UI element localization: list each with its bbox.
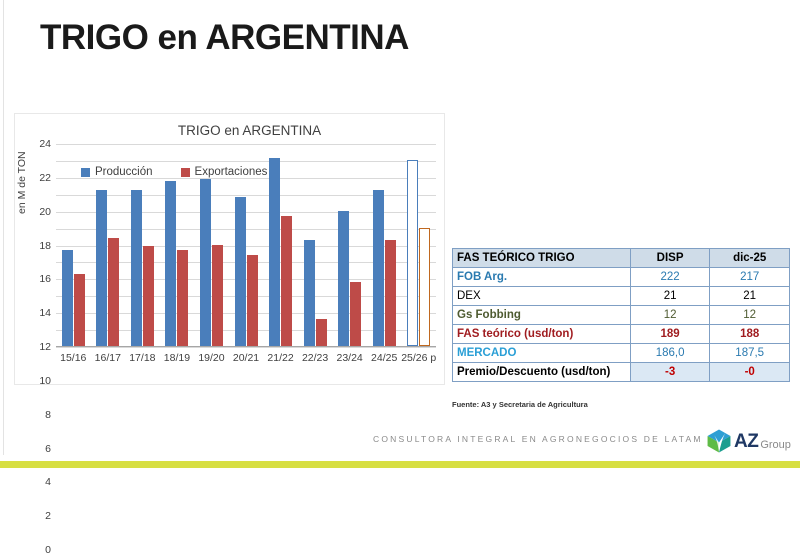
bar-produccion — [338, 211, 349, 346]
logo-group-text: Group — [760, 440, 791, 454]
table-row: DEX2121 — [453, 287, 790, 306]
y-axis-tick-label: 24 — [39, 138, 51, 150]
cube-logo-icon — [706, 428, 732, 454]
table-cell-label: MERCADO — [453, 344, 631, 363]
table-cell-dic25: 187,5 — [710, 344, 790, 363]
y-axis-tick-label: 14 — [39, 307, 51, 319]
legend-swatch-icon — [81, 168, 90, 177]
x-axis-category-label: 16/17 — [95, 352, 121, 364]
table-cell-disp: -3 — [630, 363, 710, 382]
table-cell-label: FAS teórico (usd/ton) — [453, 325, 631, 344]
footer-tagline: CONSULTORA INTEGRAL EN AGRONEGOCIOS DE L… — [373, 434, 703, 444]
table-header: FAS TEÓRICO TRIGO DISP dic-25 — [453, 249, 790, 268]
legend-item: Producción — [81, 166, 153, 178]
bar-produccion — [269, 158, 280, 346]
y-axis-tick-label: 18 — [39, 240, 51, 252]
table-row: Gs Fobbing1212 — [453, 306, 790, 325]
table-cell-dic25: -0 — [710, 363, 790, 382]
x-axis-category-label: 21/22 — [267, 352, 293, 364]
table-cell-disp: 222 — [630, 268, 710, 287]
table-cell-dic25: 21 — [710, 287, 790, 306]
bar-produccion — [304, 240, 315, 346]
table-row: MERCADO186,0187,5 — [453, 344, 790, 363]
legend-swatch-icon — [181, 168, 190, 177]
y-axis-tick-label: 12 — [39, 341, 51, 353]
page-title: TRIGO en ARGENTINA — [40, 18, 409, 58]
legend-label: Exportaciones — [195, 166, 268, 178]
logo-az-text: AZ — [734, 432, 758, 451]
y-axis-tick-label: 10 — [39, 375, 51, 387]
bar-produccion — [96, 190, 107, 346]
bar-exportaciones — [281, 216, 292, 346]
x-axis-category-label: 24/25 — [371, 352, 397, 364]
legend-label: Producción — [95, 166, 153, 178]
slide-left-edge — [3, 0, 4, 455]
bar-exportaciones — [247, 255, 258, 346]
bar-exportaciones — [212, 245, 223, 346]
legend-item: Exportaciones — [181, 166, 268, 178]
table-header-cell-disp: DISP — [630, 249, 710, 268]
y-axis-tick-label: 4 — [45, 476, 51, 488]
bar-exportaciones — [350, 282, 361, 346]
bar-exportaciones — [385, 240, 396, 346]
table-cell-disp: 186,0 — [630, 344, 710, 363]
table-row: FOB Arg.222217 — [453, 268, 790, 287]
bar-group: 21/22 — [263, 144, 298, 346]
table-cell-dic25: 188 — [710, 325, 790, 344]
y-axis-tick-label: 8 — [45, 409, 51, 421]
bar-produccion — [165, 181, 176, 346]
bar-exportaciones — [143, 246, 154, 346]
bar-group: 24/25 — [367, 144, 402, 346]
table-cell-dic25: 217 — [710, 268, 790, 287]
table-header-row: FAS TEÓRICO TRIGO DISP dic-25 — [453, 249, 790, 268]
table-cell-disp: 21 — [630, 287, 710, 306]
y-axis-tick-label: 16 — [39, 273, 51, 285]
x-axis-category-label: 15/16 — [60, 352, 86, 364]
bar-produccion — [235, 197, 246, 346]
table-header-cell-title: FAS TEÓRICO TRIGO — [453, 249, 631, 268]
bar-produccion — [407, 160, 418, 346]
bar-exportaciones — [74, 274, 85, 346]
bar-produccion — [131, 190, 142, 346]
x-axis-category-label: 22/23 — [302, 352, 328, 364]
x-axis-category-label: 20/21 — [233, 352, 259, 364]
table-body: FOB Arg.222217DEX2121Gs Fobbing1212FAS t… — [453, 268, 790, 382]
y-axis-tick-label: 2 — [45, 510, 51, 522]
chart-title: TRIGO en ARGENTINA — [15, 123, 444, 138]
y-axis-tick-label: 22 — [39, 172, 51, 184]
table-cell-disp: 189 — [630, 325, 710, 344]
table-row: FAS teórico (usd/ton)189188 — [453, 325, 790, 344]
bar-group: 22/23 — [298, 144, 333, 346]
x-axis-category-label: 25/26 p — [401, 352, 436, 364]
bar-exportaciones — [108, 238, 119, 346]
bar-exportaciones — [177, 250, 188, 346]
source-note: Fuente: A3 y Secretaria de Agricultura — [452, 400, 588, 409]
y-axis-tick-label: 0 — [45, 544, 51, 556]
chart-legend: ProducciónExportaciones — [81, 166, 267, 178]
bar-produccion — [62, 250, 73, 346]
az-group-logo: AZ Group — [706, 428, 791, 454]
x-axis-category-label: 23/24 — [337, 352, 363, 364]
table-header-cell-dic25: dic-25 — [710, 249, 790, 268]
bar-exportaciones — [316, 319, 327, 346]
bar-exportaciones — [419, 228, 430, 346]
y-axis-title: en M de TON — [16, 151, 28, 214]
table-cell-label: Premio/Descuento (usd/ton) — [453, 363, 631, 382]
x-axis-category-label: 17/18 — [129, 352, 155, 364]
bar-group: 25/26 p — [401, 144, 436, 346]
fas-teorico-table: FAS TEÓRICO TRIGO DISP dic-25 FOB Arg.22… — [452, 248, 790, 382]
y-axis-tick-label: 20 — [39, 206, 51, 218]
bar-produccion — [200, 179, 211, 346]
table-row: Premio/Descuento (usd/ton)-3-0 — [453, 363, 790, 382]
y-axis-tick-label: 6 — [45, 443, 51, 455]
x-axis-line — [56, 346, 436, 347]
x-axis-category-label: 19/20 — [198, 352, 224, 364]
x-axis-category-label: 18/19 — [164, 352, 190, 364]
table-cell-disp: 12 — [630, 306, 710, 325]
bottom-accent-bar — [0, 461, 800, 468]
table-cell-dic25: 12 — [710, 306, 790, 325]
bar-group: 23/24 — [332, 144, 367, 346]
table-cell-label: DEX — [453, 287, 631, 306]
chart-panel: TRIGO en ARGENTINA en M de TON 024681012… — [14, 113, 445, 385]
table-cell-label: Gs Fobbing — [453, 306, 631, 325]
table-cell-label: FOB Arg. — [453, 268, 631, 287]
gridline: 0 — [56, 347, 436, 348]
bar-produccion — [373, 190, 384, 346]
